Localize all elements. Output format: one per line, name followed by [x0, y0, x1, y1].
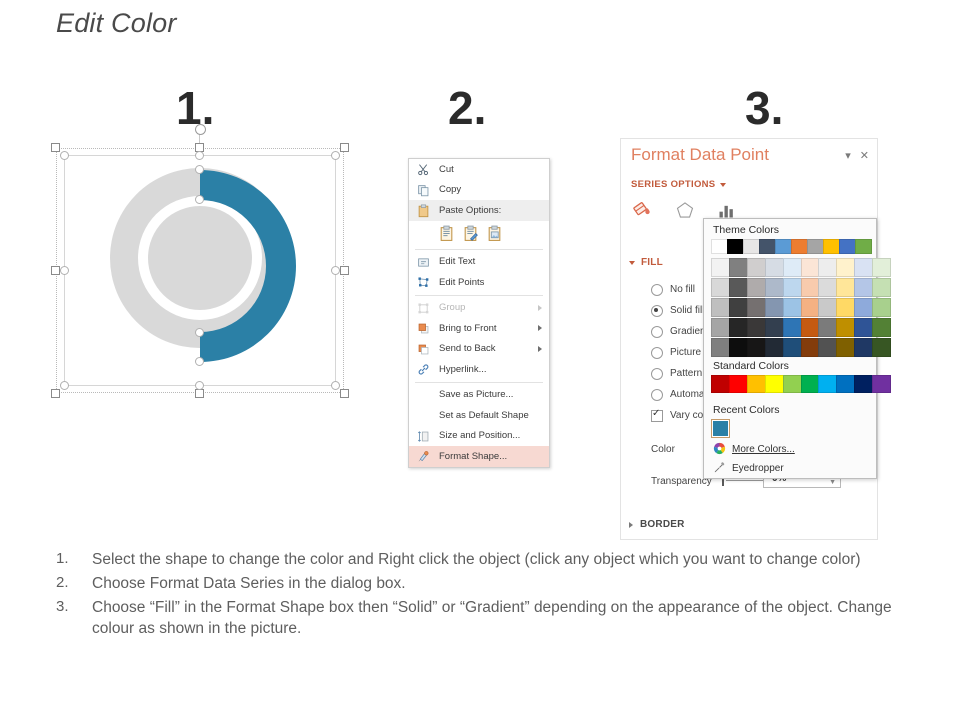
theme-color-swatch[interactable]: [872, 258, 891, 277]
edit-text-icon: [416, 255, 431, 270]
eyedropper-item[interactable]: Eyedropper: [704, 459, 876, 478]
standard-color-swatch[interactable]: [729, 375, 748, 394]
radio-icon[interactable]: [651, 347, 663, 359]
theme-color-swatch[interactable]: [711, 258, 730, 277]
copy-icon: [416, 183, 431, 198]
step-number-1: 1.: [176, 85, 214, 131]
menu-item-label: Hyperlink...: [439, 364, 487, 375]
theme-color-swatch[interactable]: [872, 338, 891, 357]
theme-color-swatch[interactable]: [872, 318, 891, 337]
theme-color-swatch[interactable]: [818, 318, 837, 337]
theme-color-swatch[interactable]: [729, 338, 748, 357]
menu-item-save-as-picture[interactable]: Save as Picture...: [409, 385, 549, 406]
group-icon: [416, 301, 431, 316]
theme-color-swatch[interactable]: [801, 338, 820, 357]
menu-item-label: Send to Back: [439, 343, 496, 354]
standard-colors-row[interactable]: [704, 375, 876, 396]
theme-color-swatch[interactable]: [765, 318, 784, 337]
theme-color-swatch[interactable]: [711, 318, 730, 337]
theme-colors-shades[interactable]: [704, 258, 876, 351]
chevron-down-icon[interactable]: ▾: [845, 149, 851, 162]
color-picker-dropdown[interactable]: Theme Colors Standard Colors Recent Colo…: [703, 218, 877, 479]
menu-item-paste-options[interactable]: Paste Options:: [409, 200, 549, 221]
spinner-down-icon[interactable]: ▼: [829, 480, 836, 486]
step-number-2: 2.: [448, 85, 486, 131]
recent-color-swatch[interactable]: [711, 419, 730, 438]
instruction-number: 2.: [56, 574, 92, 595]
theme-color-swatch[interactable]: [854, 278, 873, 297]
theme-colors-top-row[interactable]: [704, 239, 876, 258]
fill-option-label: Solid fill: [670, 305, 704, 316]
submenu-arrow-icon: [538, 325, 542, 331]
instructions-list: 1. Select the shape to change the color …: [56, 550, 906, 640]
chevron-right-icon: [629, 522, 633, 528]
theme-color-swatch[interactable]: [783, 258, 802, 277]
theme-color-swatch[interactable]: [711, 278, 730, 297]
border-section-label: BORDER: [640, 519, 685, 530]
theme-color-swatch[interactable]: [807, 239, 824, 254]
effects-pentagon-icon[interactable]: [675, 200, 695, 223]
fill-option-label: No fill: [670, 284, 695, 295]
menu-item-label: Cut: [439, 164, 454, 175]
resize-handle-nw[interactable]: [51, 143, 60, 152]
theme-color-swatch[interactable]: [783, 278, 802, 297]
scissors-icon: [416, 162, 431, 177]
inner-handle-sw[interactable]: [60, 381, 69, 390]
theme-color-swatch[interactable]: [765, 258, 784, 277]
theme-color-swatch[interactable]: [836, 278, 855, 297]
bring-to-front-icon: [416, 321, 431, 336]
page-title: Edit Color: [56, 8, 177, 39]
context-menu[interactable]: Cut Copy Paste Options:: [408, 158, 550, 468]
radio-icon[interactable]: [651, 326, 663, 338]
instruction-item-2: 2. Choose Format Data Series in the dial…: [56, 574, 906, 595]
theme-color-swatch[interactable]: [854, 338, 873, 357]
theme-color-swatch[interactable]: [729, 278, 748, 297]
instruction-text: Choose “Fill” in the Format Shape box th…: [92, 598, 906, 640]
theme-color-swatch[interactable]: [818, 338, 837, 357]
inner-handle-ne[interactable]: [331, 151, 340, 160]
radio-icon[interactable]: [651, 389, 663, 401]
standard-colors-label: Standard Colors: [704, 355, 876, 375]
color-wheel-icon: [713, 442, 726, 458]
eyedropper-icon: [713, 461, 726, 477]
instruction-item-3: 3. Choose “Fill” in the Format Shape box…: [56, 598, 906, 640]
menu-item-set-as-default-shape[interactable]: Set as Default Shape: [409, 405, 549, 426]
theme-color-swatch[interactable]: [729, 298, 748, 317]
slide-canvas: Edit Color 1. 2. 3.: [0, 0, 960, 720]
menu-item-cut[interactable]: Cut: [409, 159, 549, 180]
theme-color-swatch[interactable]: [854, 318, 873, 337]
checkbox-icon-checked[interactable]: [651, 410, 663, 422]
instruction-text: Choose Format Data Series in the dialog …: [92, 574, 906, 595]
instruction-number: 3.: [56, 598, 92, 640]
theme-color-swatch[interactable]: [836, 318, 855, 337]
close-icon[interactable]: ✕: [860, 149, 869, 162]
theme-color-swatch[interactable]: [801, 318, 820, 337]
theme-color-swatch[interactable]: [729, 258, 748, 277]
theme-color-swatch[interactable]: [872, 278, 891, 297]
menu-item-label: Format Shape...: [439, 451, 507, 462]
size-position-icon: [416, 429, 431, 444]
theme-color-swatch[interactable]: [783, 318, 802, 337]
theme-color-swatch[interactable]: [765, 278, 784, 297]
theme-color-swatch[interactable]: [765, 298, 784, 317]
menu-item-label: Save as Picture...: [439, 389, 513, 400]
menu-item-send-to-back[interactable]: Send to Back: [409, 339, 549, 360]
paste-options-row[interactable]: [409, 221, 549, 247]
inner-handle-n[interactable]: [195, 151, 204, 160]
theme-color-swatch[interactable]: [791, 239, 808, 254]
submenu-arrow-icon: [538, 305, 542, 311]
more-colors-item[interactable]: More Colors...: [704, 440, 876, 459]
pane-controls[interactable]: ▾ ✕: [845, 149, 869, 162]
chevron-down-icon: [629, 261, 635, 265]
theme-color-swatch[interactable]: [818, 278, 837, 297]
theme-color-swatch[interactable]: [823, 239, 840, 254]
menu-item-label: Bring to Front: [439, 323, 497, 334]
edit-points-icon: [416, 275, 431, 290]
theme-color-swatch[interactable]: [765, 338, 784, 357]
theme-color-swatch[interactable]: [783, 338, 802, 357]
arc-handle-bottom-inner[interactable]: [195, 328, 204, 337]
menu-item-label: Edit Text: [439, 256, 475, 267]
standard-color-swatch[interactable]: [836, 375, 855, 394]
fill-section-label: FILL: [641, 257, 663, 268]
theme-color-swatch[interactable]: [836, 298, 855, 317]
series-options-selector[interactable]: SERIES OPTIONS: [631, 179, 726, 190]
theme-color-swatch[interactable]: [854, 298, 873, 317]
theme-color-swatch[interactable]: [747, 338, 766, 357]
more-colors-label: More Colors...: [732, 444, 795, 455]
arc-handle-top-outer[interactable]: [195, 165, 204, 174]
theme-color-swatch[interactable]: [836, 258, 855, 277]
standard-color-swatch[interactable]: [765, 375, 784, 394]
resize-handle-ne[interactable]: [340, 143, 349, 152]
arc-handle-bottom-outer[interactable]: [195, 357, 204, 366]
fill-bucket-icon[interactable]: [631, 198, 653, 223]
theme-color-swatch[interactable]: [801, 258, 820, 277]
donut-accent-arc[interactable]: [102, 160, 314, 372]
menu-item-group: Group: [409, 298, 549, 319]
chevron-down-icon: [720, 183, 726, 187]
rotate-handle[interactable]: [195, 124, 206, 135]
theme-color-swatch[interactable]: [818, 258, 837, 277]
theme-color-swatch[interactable]: [747, 258, 766, 277]
paste-merge-icon[interactable]: [463, 225, 478, 242]
donut-chart[interactable]: [102, 160, 314, 372]
standard-color-swatch[interactable]: [747, 375, 766, 394]
theme-color-swatch[interactable]: [711, 239, 728, 254]
menu-item-label: Edit Points: [439, 277, 484, 288]
standard-color-swatch[interactable]: [711, 375, 730, 394]
step-number-3: 3.: [745, 85, 783, 131]
inner-handle-w[interactable]: [60, 266, 69, 275]
resize-handle-e[interactable]: [340, 266, 349, 275]
theme-color-swatch[interactable]: [729, 318, 748, 337]
radio-icon[interactable]: [651, 284, 663, 296]
theme-color-swatch[interactable]: [818, 298, 837, 317]
theme-color-swatch[interactable]: [711, 338, 730, 357]
menu-item-hyperlink[interactable]: Hyperlink...: [409, 359, 549, 380]
instruction-number: 1.: [56, 550, 92, 571]
theme-color-swatch[interactable]: [727, 239, 744, 254]
standard-color-swatch[interactable]: [872, 375, 891, 394]
instruction-item-1: 1. Select the shape to change the color …: [56, 550, 906, 571]
instruction-text: Select the shape to change the color and…: [92, 550, 906, 571]
menu-item-label: Copy: [439, 184, 461, 195]
menu-item-label: Size and Position...: [439, 430, 520, 441]
menu-item-copy[interactable]: Copy: [409, 180, 549, 201]
inner-handle-se[interactable]: [331, 381, 340, 390]
menu-item-label: Paste Options:: [439, 205, 501, 216]
inner-handle-s[interactable]: [195, 381, 204, 390]
resize-handle-w[interactable]: [51, 266, 60, 275]
menu-separator: [415, 295, 543, 296]
menu-separator: [415, 382, 543, 383]
theme-color-swatch[interactable]: [872, 298, 891, 317]
menu-item-size-and-position[interactable]: Size and Position...: [409, 426, 549, 447]
hyperlink-icon: [416, 362, 431, 377]
series-options-label: SERIES OPTIONS: [631, 179, 715, 190]
inner-handle-e[interactable]: [331, 266, 340, 275]
resize-handle-sw[interactable]: [51, 389, 60, 398]
theme-color-swatch[interactable]: [747, 318, 766, 337]
theme-color-swatch[interactable]: [775, 239, 792, 254]
border-section-header[interactable]: BORDER: [629, 519, 685, 530]
theme-color-swatch[interactable]: [747, 298, 766, 317]
theme-colors-label: Theme Colors: [704, 219, 876, 239]
radio-icon[interactable]: [651, 368, 663, 380]
inner-handle-nw[interactable]: [60, 151, 69, 160]
recent-colors-label: Recent Colors: [704, 399, 876, 419]
standard-color-swatch[interactable]: [783, 375, 802, 394]
theme-color-swatch[interactable]: [836, 338, 855, 357]
format-shape-icon: [416, 449, 431, 464]
theme-color-swatch[interactable]: [855, 239, 872, 254]
radio-icon-selected[interactable]: [651, 305, 663, 317]
theme-color-swatch[interactable]: [711, 298, 730, 317]
menu-item-format-shape[interactable]: Format Shape...: [409, 446, 549, 467]
send-to-back-icon: [416, 342, 431, 357]
paste-keep-formatting-icon[interactable]: [439, 225, 454, 242]
fill-section-header[interactable]: FILL: [629, 257, 663, 268]
menu-item-label: Group: [439, 302, 465, 313]
standard-color-swatch[interactable]: [818, 375, 837, 394]
theme-color-swatch[interactable]: [854, 258, 873, 277]
theme-color-swatch[interactable]: [759, 239, 776, 254]
theme-color-swatch[interactable]: [747, 278, 766, 297]
theme-color-swatch[interactable]: [839, 239, 856, 254]
theme-color-swatch[interactable]: [783, 298, 802, 317]
menu-separator: [415, 249, 543, 250]
menu-item-edit-text[interactable]: Edit Text: [409, 252, 549, 273]
theme-color-swatch[interactable]: [801, 278, 820, 297]
clipboard-icon: [416, 203, 431, 218]
menu-item-edit-points[interactable]: Edit Points: [409, 272, 549, 293]
arc-handle-top-inner[interactable]: [195, 195, 204, 204]
theme-color-swatch[interactable]: [801, 298, 820, 317]
resize-handle-se[interactable]: [340, 389, 349, 398]
shape-selection-area[interactable]: [56, 148, 344, 393]
eyedropper-label: Eyedropper: [732, 463, 784, 474]
paste-picture-icon[interactable]: [487, 225, 502, 242]
theme-color-swatch[interactable]: [743, 239, 760, 254]
color-label: Color: [651, 444, 675, 455]
standard-color-swatch[interactable]: [854, 375, 873, 394]
menu-item-label: Set as Default Shape: [439, 410, 529, 421]
menu-item-bring-to-front[interactable]: Bring to Front: [409, 318, 549, 339]
submenu-arrow-icon: [538, 346, 542, 352]
resize-handle-s[interactable]: [195, 389, 204, 398]
pane-title: Format Data Point: [631, 145, 769, 165]
standard-color-swatch[interactable]: [801, 375, 820, 394]
recent-colors-row[interactable]: [704, 419, 876, 440]
